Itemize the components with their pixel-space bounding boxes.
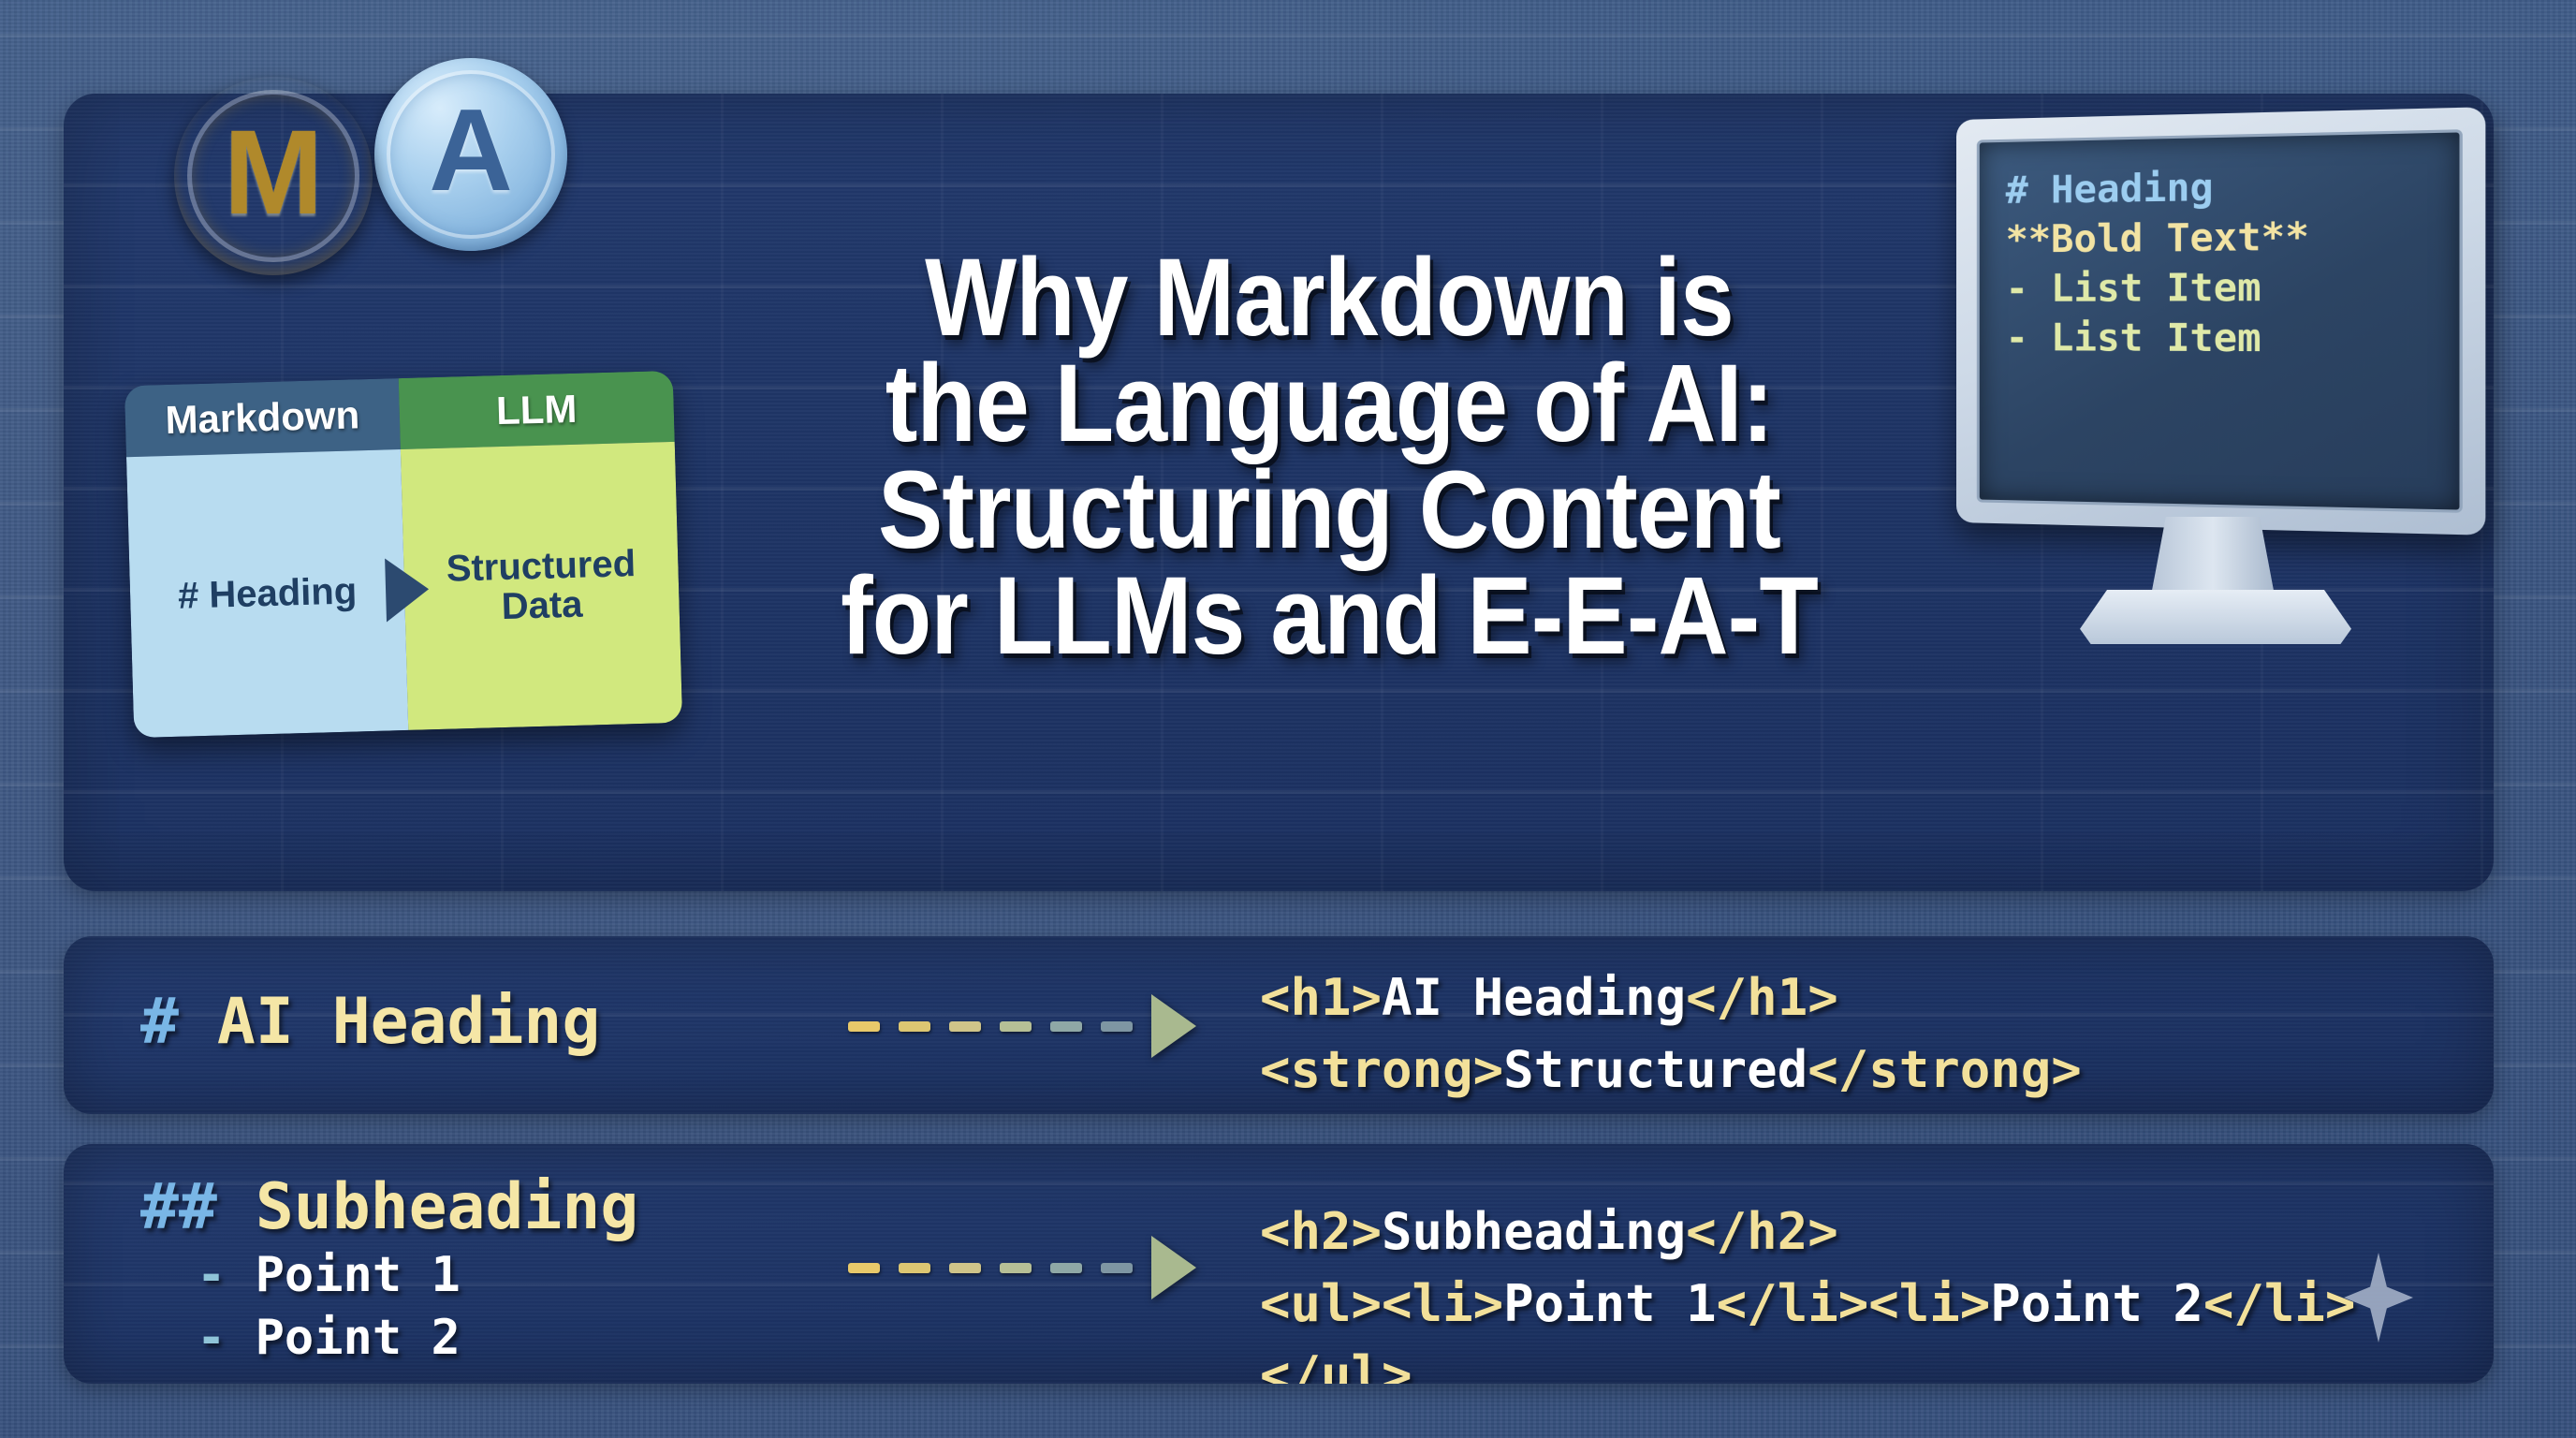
markdown-to-structured-data-table: Markdown LLM # Heading Structured Data — [124, 371, 682, 738]
row2-connector-arrow — [848, 1236, 1196, 1299]
dash-5 — [1050, 1021, 1082, 1032]
row1-h1-content: AI Heading — [1382, 968, 1686, 1027]
row1-strong-open-tag: <strong> — [1260, 1040, 1503, 1099]
dash-2 — [899, 1021, 930, 1032]
row2-markdown-text: Subheading — [256, 1170, 638, 1244]
row2-ul-open-tag: <ul><li> — [1260, 1274, 1503, 1333]
row1-h1-open-tag: <h1> — [1260, 968, 1382, 1027]
dash-3 — [949, 1263, 981, 1273]
row2-bullet-2-text: Point 2 — [256, 1310, 461, 1366]
row1-strong-close-tag: </strong> — [1808, 1040, 2082, 1099]
row2-subheading-line: ## Subheading — [140, 1170, 638, 1244]
row2-h2-content: Subheading — [1382, 1202, 1686, 1261]
monitor-stand-base — [2080, 590, 2351, 644]
table-header-llm: LLM — [399, 371, 675, 449]
row2-bullet-1-text: Point 1 — [256, 1247, 461, 1303]
arrow-right-icon — [1151, 994, 1196, 1058]
row2-markdown-source: ## Subheading - Point 1 - Point 2 — [140, 1170, 638, 1369]
monitor-body: # Heading **Bold Text** - List Item - Li… — [1956, 107, 2485, 536]
screen-code-line-4: - List Item — [2006, 314, 2439, 365]
row2-html-line-2: <ul><li>Point 1</li><li>Point 2</li></ul… — [1260, 1269, 2494, 1384]
ai-coin-letter: A — [374, 58, 567, 251]
structured-line2: Data — [501, 584, 583, 627]
dash-1 — [848, 1263, 880, 1273]
table-header-markdown: Markdown — [124, 378, 401, 457]
row1-connector-arrow — [848, 994, 1196, 1058]
title-line-3: Structuring Content — [785, 458, 1873, 564]
table-cell-structured-data: Structured Data — [401, 442, 682, 730]
screen-code-line-1: # Heading — [2006, 158, 2439, 215]
row1-strong-content: Structured — [1503, 1040, 1808, 1099]
conversion-row-2: ## Subheading - Point 1 - Point 2 <h2>Su… — [64, 1144, 2494, 1384]
row2-hash-marker: ## — [140, 1170, 256, 1244]
screen-code-line-3: - List Item — [2006, 262, 2439, 314]
row2-bullet-1: - Point 1 — [197, 1244, 638, 1307]
monitor-illustration: # Heading **Bold Text** - List Item - Li… — [1956, 120, 2481, 672]
dash-3 — [949, 1021, 981, 1032]
row2-h2-close-tag: </h2> — [1686, 1202, 1838, 1261]
row1-html-line-1: <h1>AI Heading</h1> — [1260, 962, 2082, 1034]
table-cell-markdown-heading-label: # Heading — [177, 570, 357, 617]
dash-2 — [899, 1263, 930, 1273]
row2-bullet-1-marker: - — [197, 1247, 226, 1303]
row1-markdown-source: # AI Heading — [140, 985, 600, 1059]
arrow-right-icon — [1151, 1236, 1196, 1299]
row2-bullet-2-marker: - — [197, 1310, 226, 1366]
monitor-screen: # Heading **Bold Text** - List Item - Li… — [1977, 129, 2463, 513]
title-line-1: Why Markdown is — [785, 245, 1873, 351]
arrow-right-icon — [385, 557, 430, 622]
coin-badges-group: A M — [174, 58, 567, 283]
table-cell-structured-data-label: Structured Data — [446, 544, 637, 628]
markdown-coin-letter: M — [174, 77, 373, 275]
structured-line1: Structured — [446, 543, 636, 590]
screen-code-line-2: **Bold Text** — [2006, 210, 2439, 264]
row1-html-line-2: <strong>Structured</strong> — [1260, 1034, 2082, 1107]
dash-6 — [1101, 1263, 1133, 1273]
markdown-coin-badge: M — [174, 77, 373, 275]
row2-html-output: <h2>Subheading</h2> <ul><li>Point 1</li>… — [1260, 1196, 2494, 1384]
dash-4 — [1000, 1263, 1032, 1273]
dash-6 — [1101, 1021, 1133, 1032]
row2-html-line-1: <h2>Subheading</h2> — [1260, 1196, 2494, 1269]
dash-1 — [848, 1021, 880, 1032]
title-line-4: for LLMs and E-E-A-T — [785, 564, 1873, 669]
row1-html-output: <h1>AI Heading</h1> <strong>Structured</… — [1260, 962, 2082, 1106]
row1-h1-close-tag: </h1> — [1686, 968, 1838, 1027]
dash-5 — [1050, 1263, 1082, 1273]
row1-hash-marker: # — [140, 985, 217, 1059]
row2-bullet-2: - Point 2 — [197, 1307, 638, 1370]
row1-markdown-text: AI Heading — [217, 985, 600, 1059]
monitor-stand-neck — [2151, 517, 2275, 595]
table-cell-markdown-heading: # Heading — [126, 449, 408, 738]
ai-coin-badge: A — [374, 58, 567, 251]
row2-li-1-content: Point 1 — [1503, 1274, 1717, 1333]
row2-li-2-content: Point 2 — [1990, 1274, 2203, 1333]
page-title: Why Markdown is the Language of AI: Stru… — [785, 245, 1873, 669]
dash-4 — [1000, 1021, 1032, 1032]
row2-h2-open-tag: <h2> — [1260, 1202, 1382, 1261]
title-line-2: the Language of AI: — [785, 351, 1873, 457]
conversion-row-1: # AI Heading <h1>AI Heading</h1> <strong… — [64, 936, 2494, 1114]
row2-li-mid-tag: </li><li> — [1717, 1274, 1991, 1333]
